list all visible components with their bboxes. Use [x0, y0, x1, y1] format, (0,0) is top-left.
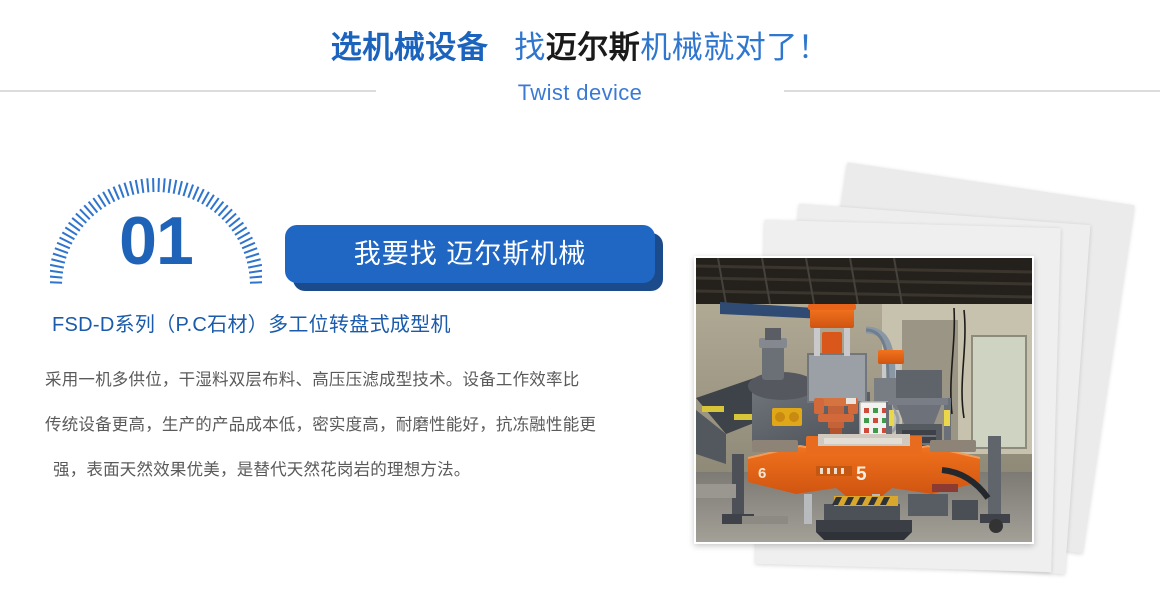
svg-text:6: 6	[758, 465, 766, 482]
machine-photo-illustration: 6 5	[696, 258, 1032, 542]
description-line-3: 强，表面天然效果优美，是替代天然花岗岩的理想方法。	[45, 448, 663, 493]
page-headline: 选机械设备找迈尔斯机械就对了！	[0, 28, 1160, 68]
product-photo-stack: 6 5	[660, 180, 1120, 580]
promo-page: 选机械设备找迈尔斯机械就对了！ Twist device 01 我要找 迈尔斯机…	[0, 0, 1160, 591]
product-info-column: 01 我要找 迈尔斯机械 FSD-D系列（P.C石材）多工位转盘式成型机 采用一…	[0, 140, 690, 591]
cta-container: 我要找 迈尔斯机械	[285, 225, 665, 293]
headline-segment-3: 机械就对了！	[640, 30, 829, 65]
page-subheadline: Twist device	[0, 78, 1160, 108]
page-header: 选机械设备找迈尔斯机械就对了！ Twist device	[0, 0, 1160, 120]
product-title: FSD-D系列（P.C石材）多工位转盘式成型机	[52, 310, 672, 340]
description-line-2: 传统设备更高，生产的产品成本低，密实度高，耐磨性能好，抗冻融性能更	[45, 403, 663, 448]
description-line-1: 采用一机多供位，干湿料双层布料、高压压滤成型技术。设备工作效率比	[45, 358, 663, 403]
svg-text:5: 5	[856, 464, 867, 485]
step-badge: 01	[50, 168, 262, 298]
find-maiersi-machinery-button[interactable]: 我要找 迈尔斯机械	[285, 225, 655, 283]
product-description: 采用一机多供位，干湿料双层布料、高压压滤成型技术。设备工作效率比 传统设备更高，…	[45, 358, 663, 493]
step-badge-number: 01	[50, 202, 262, 280]
product-photo[interactable]: 6 5	[696, 258, 1032, 542]
headline-brand: 迈尔斯	[546, 30, 641, 65]
product-photo-frame[interactable]: 6 5	[694, 256, 1034, 544]
headline-segment-2: 找	[514, 30, 546, 65]
headline-segment-1: 选机械设备	[331, 30, 489, 65]
